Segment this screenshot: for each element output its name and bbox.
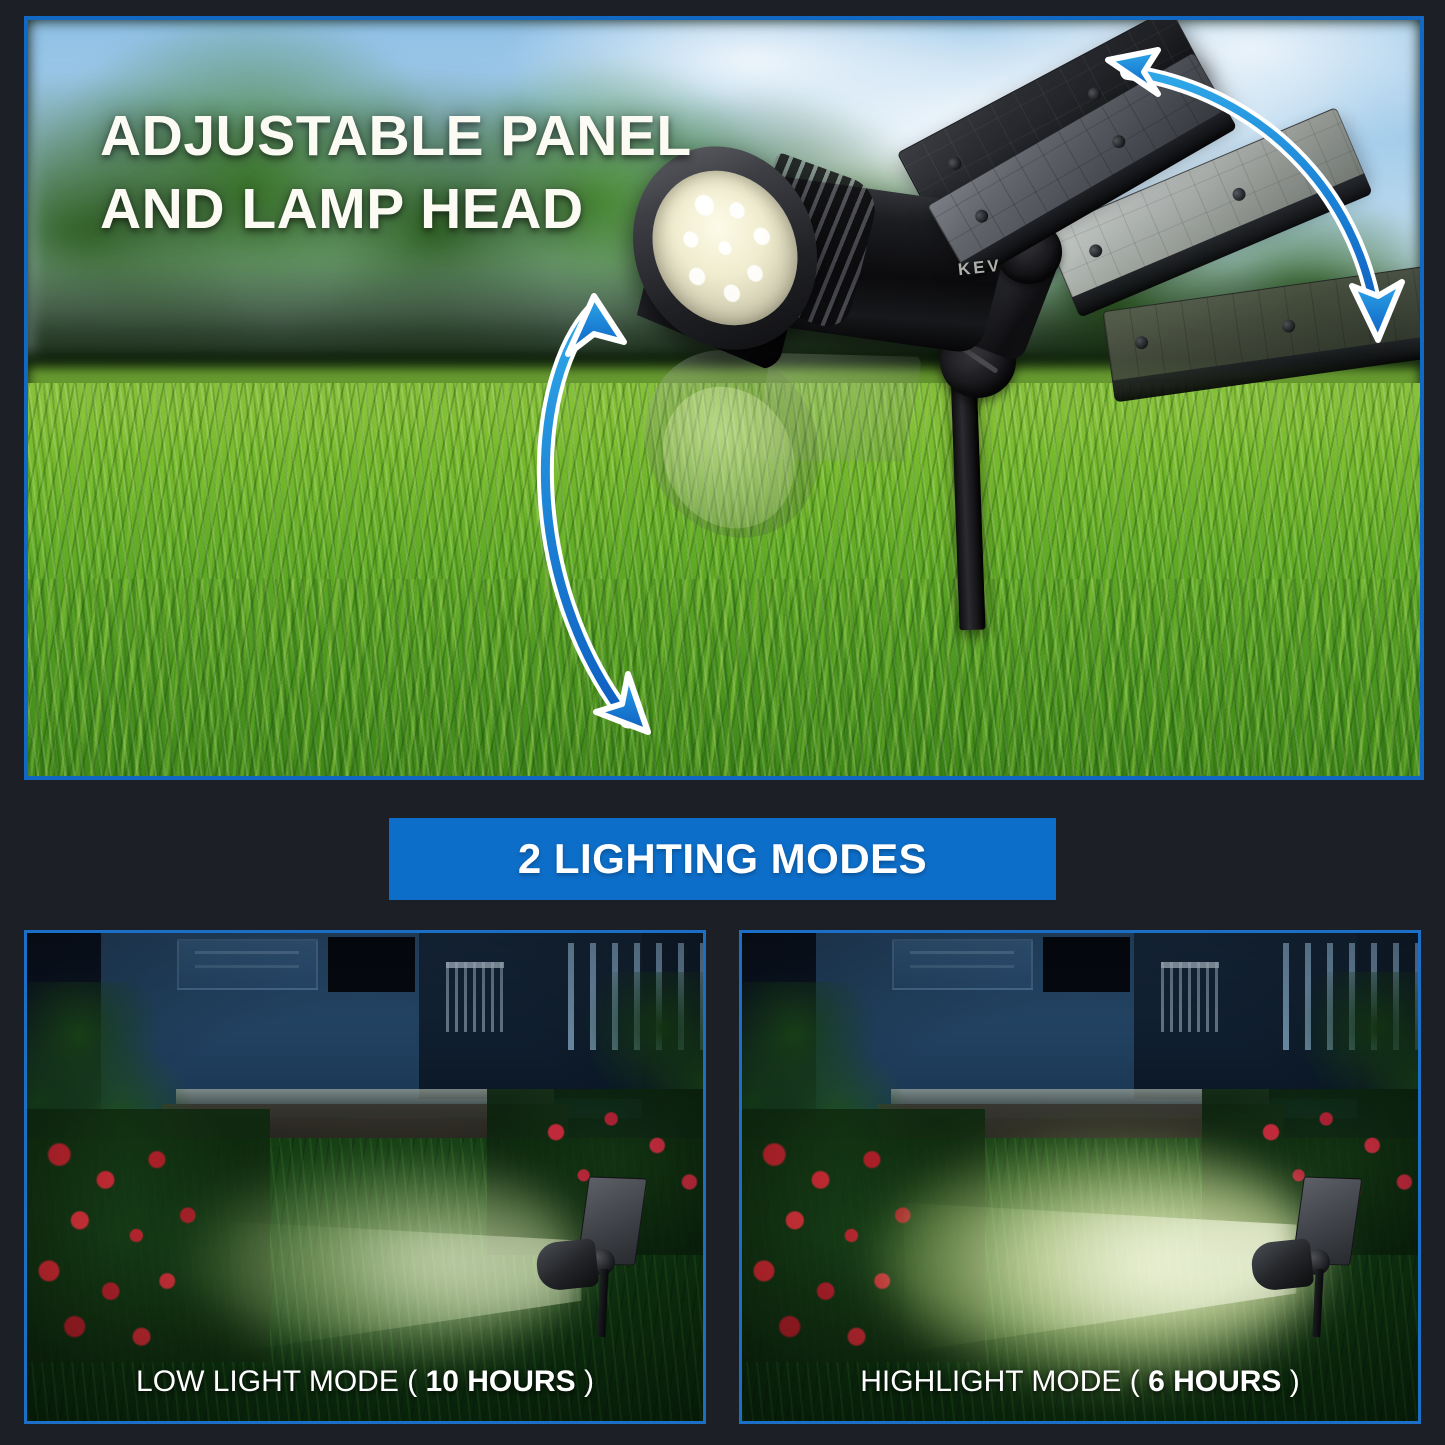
lamp-lens-ghost bbox=[648, 366, 808, 549]
mode-duration: 6 HOURS bbox=[1148, 1365, 1281, 1398]
mode-caption-highlight: HIGHLIGHT MODE ( 6 HOURS ) bbox=[742, 1365, 1418, 1399]
heading-line-2: AND LAMP HEAD bbox=[100, 173, 692, 246]
banner-label: 2 LIGHTING MODES bbox=[518, 835, 927, 883]
lighting-modes-banner: 2 LIGHTING MODES bbox=[389, 818, 1056, 900]
night-vignette bbox=[742, 933, 1418, 1421]
mode-caption-low-light: LOW LIGHT MODE ( 10 HOURS ) bbox=[27, 1365, 703, 1399]
lamp-head-ghost-low bbox=[642, 340, 872, 530]
page-title: ADJUSTABLE PANEL AND LAMP HEAD bbox=[100, 100, 692, 246]
heading-line-1: ADJUSTABLE PANEL bbox=[100, 104, 692, 168]
mode-name: LOW LIGHT MODE bbox=[136, 1365, 399, 1398]
mode-duration: 10 HOURS bbox=[426, 1365, 576, 1398]
mode-panel-low-light: LOW LIGHT MODE ( 10 HOURS ) bbox=[24, 930, 706, 1424]
close-paren: ) bbox=[1290, 1365, 1300, 1398]
open-paren: ( bbox=[1130, 1365, 1140, 1398]
hero-panel: ADJUSTABLE PANEL AND LAMP HEAD bbox=[24, 16, 1424, 780]
ground-stake bbox=[950, 370, 985, 631]
product-spotlight-assembly: KEV bbox=[628, 40, 1424, 740]
mode-name: HIGHLIGHT MODE bbox=[860, 1365, 1121, 1398]
night-vignette bbox=[27, 933, 703, 1421]
mode-panel-highlight: HIGHLIGHT MODE ( 6 HOURS ) bbox=[739, 930, 1421, 1424]
open-paren: ( bbox=[407, 1365, 417, 1398]
close-paren: ) bbox=[584, 1365, 594, 1398]
